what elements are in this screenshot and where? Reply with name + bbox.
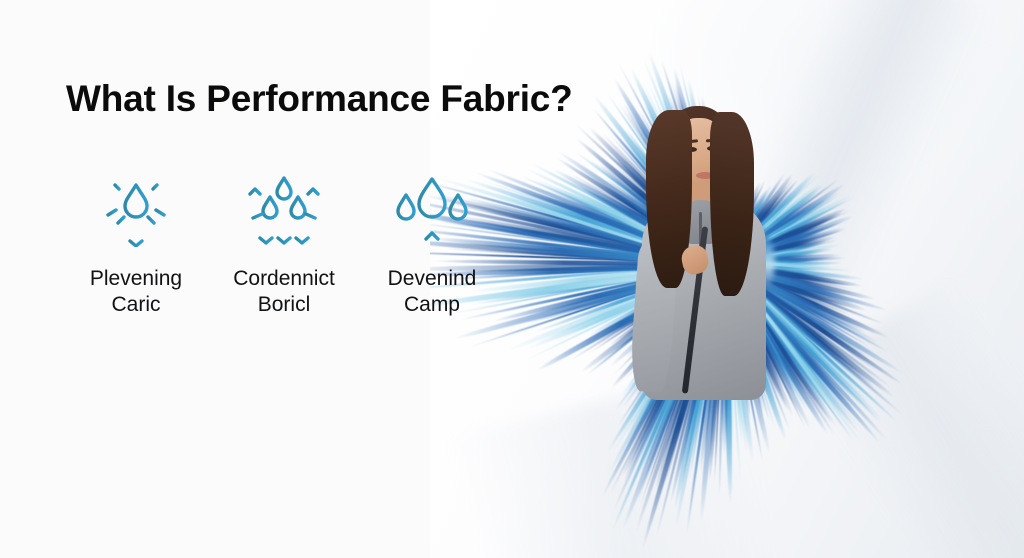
feature-label: Cordennict Boricl <box>233 266 335 317</box>
performance-fabric-banner: What Is Performance Fabric? <box>0 0 1024 558</box>
water-repellent-sun-droplet-icon <box>90 172 182 250</box>
feature-item-moisture-wicking: Cordennict Boricl <box>210 172 358 317</box>
feature-list: Plevening Caric <box>62 172 506 317</box>
model-figure <box>626 96 776 396</box>
feature-item-quick-dry: Devenind Camp <box>358 172 506 317</box>
moisture-wicking-breathable-icon <box>238 172 330 250</box>
quick-dry-airflow-icon <box>386 172 478 250</box>
feature-label: Devenind Camp <box>388 266 477 317</box>
feature-label: Plevening Caric <box>90 266 182 317</box>
page-title: What Is Performance Fabric? <box>66 78 573 120</box>
feature-item-water-repellent: Plevening Caric <box>62 172 210 317</box>
